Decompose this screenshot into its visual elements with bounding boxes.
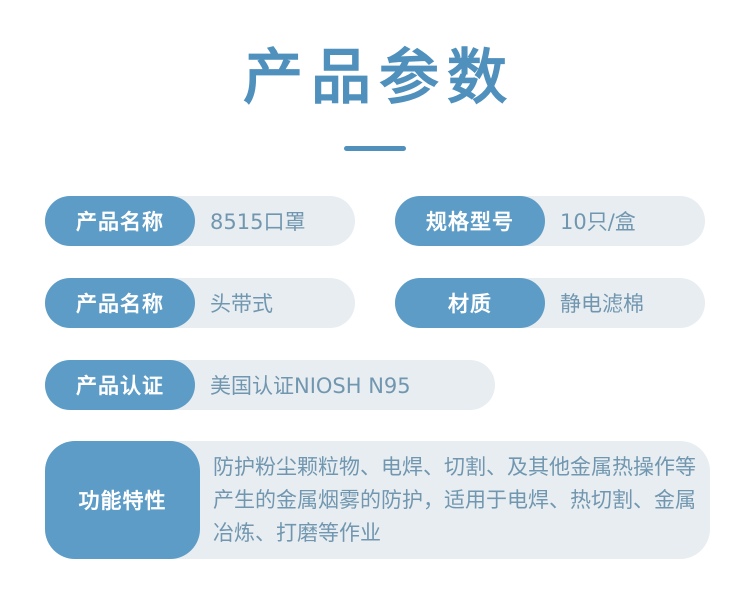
parameter-rows: 产品名称 8515口罩 规格型号 10只/盒 产品名称 头带式 材质 静电滤棉 [0, 196, 750, 442]
page-title: 产品参数 [0, 42, 750, 114]
table-row: 产品名称 头带式 材质 静电滤棉 [0, 278, 750, 328]
parameter-value-certification: 美国认证NIOSH N95 [210, 360, 411, 410]
title-divider [344, 146, 406, 151]
parameter-value-features: 防护粉尘颗粒物、电焊、切割、及其他金属热操作等产生的金属烟雾的防护，适用于电焊、… [213, 441, 701, 559]
product-parameters-page: 产品参数 产品名称 8515口罩 规格型号 10只/盒 产品名称 头带式 [0, 0, 750, 602]
page-header: 产品参数 [0, 42, 750, 151]
table-row: 产品认证 美国认证NIOSH N95 [0, 360, 750, 410]
table-row: 产品名称 8515口罩 规格型号 10只/盒 [0, 196, 750, 246]
parameter-value-product-name: 8515口罩 [210, 196, 305, 246]
features-block: 功能特性 防护粉尘颗粒物、电焊、切割、及其他金属热操作等产生的金属烟雾的防护，适… [45, 441, 710, 559]
parameter-label-spec-model: 规格型号 [395, 196, 545, 246]
parameter-label-product-name: 产品名称 [45, 196, 195, 246]
parameter-value-spec-model: 10只/盒 [560, 196, 636, 246]
parameter-label-features: 功能特性 [45, 441, 200, 559]
parameter-label-certification: 产品认证 [45, 360, 195, 410]
parameter-label-material: 材质 [395, 278, 545, 328]
parameter-value-material: 静电滤棉 [560, 278, 644, 328]
parameter-value-wear-type: 头带式 [210, 278, 273, 328]
parameter-label-wear-type: 产品名称 [45, 278, 195, 328]
